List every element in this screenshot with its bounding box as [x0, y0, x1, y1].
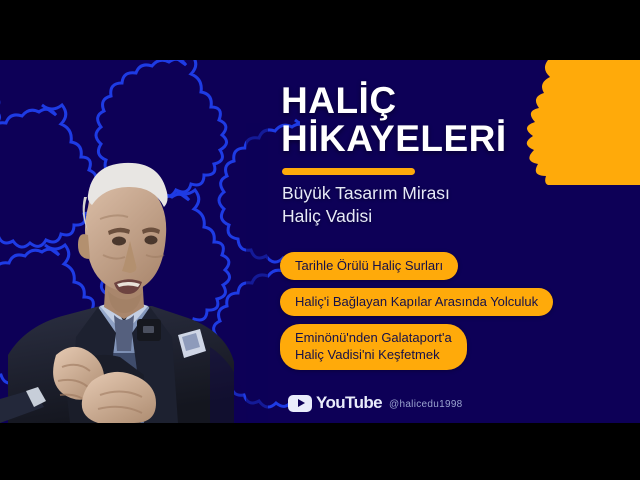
youtube-play-icon	[288, 395, 312, 412]
letterbox-bar-bottom	[0, 423, 640, 480]
topic-pill-list: Tarihle Örülü Haliç Surları Haliç'i Bağl…	[280, 252, 640, 378]
pill-row: Eminönü'nden Galataport'a Haliç Vadisi'n…	[280, 324, 640, 377]
youtube-attribution: YouTube @halicedu1998	[288, 393, 463, 413]
pill-row: Haliç'i Bağlayan Kapılar Arasında Yolcul…	[280, 288, 640, 324]
page-title: HALİÇ HİKAYELERİ	[281, 82, 507, 157]
thumbnail-content: HALİÇ HİKAYELERİ Büyük Tasarım Mirası Ha…	[279, 60, 640, 423]
subtitle: Büyük Tasarım Mirası Haliç Vadisi	[282, 182, 450, 229]
elderly-man-speaking-portrait	[0, 123, 268, 423]
letterbox-bar-top	[0, 0, 640, 60]
topic-pill-1[interactable]: Tarihle Örülü Haliç Surları	[280, 252, 458, 280]
title-underline-rule	[282, 168, 415, 175]
channel-handle[interactable]: @halicedu1998	[389, 396, 463, 410]
pill-row: Tarihle Örülü Haliç Surları	[280, 252, 640, 288]
topic-pill-2[interactable]: Haliç'i Bağlayan Kapılar Arasında Yolcul…	[280, 288, 553, 316]
youtube-logo: YouTube	[288, 393, 382, 413]
video-thumbnail: HALİÇ HİKAYELERİ Büyük Tasarım Mirası Ha…	[0, 0, 640, 480]
thumbnail-frame: HALİÇ HİKAYELERİ Büyük Tasarım Mirası Ha…	[0, 60, 640, 423]
youtube-wordmark: YouTube	[316, 393, 382, 413]
topic-pill-3[interactable]: Eminönü'nden Galataport'a Haliç Vadisi'n…	[280, 324, 467, 369]
